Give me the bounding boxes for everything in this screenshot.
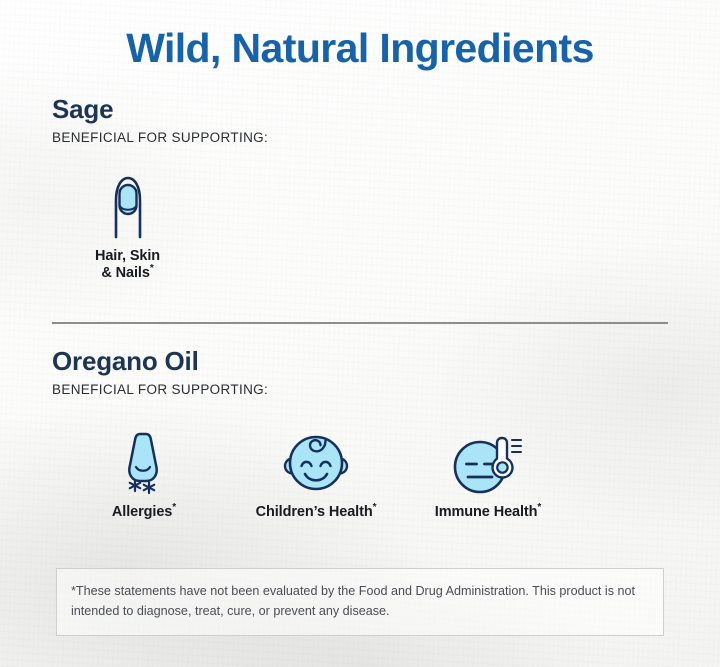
benefit-label-childrens-health: Children’s Health* — [256, 504, 377, 521]
fda-disclaimer: *These statements have not been evaluate… — [56, 568, 664, 636]
benefit-item-hair-skin-nails: Hair, Skin & Nails* — [60, 167, 195, 282]
page-title: Wild, Natural Ingredients — [0, 25, 720, 72]
benefit-label-line1: Hair, Skin — [95, 248, 160, 264]
ingredient-name-oregano-oil: Oregano Oil — [52, 348, 668, 375]
beneficial-label-sage: BENEFICIAL FOR SUPPORTING: — [52, 130, 668, 145]
benefit-item-childrens-health: Children’s Health* — [230, 423, 402, 521]
footnote-marker: * — [172, 502, 176, 513]
footnote-marker: * — [373, 502, 377, 513]
benefit-label-line1: Allergies — [112, 504, 172, 520]
benefit-item-allergies: Allergies* — [58, 423, 230, 521]
ingredient-section-oregano-oil: Oregano Oil BENEFICIAL FOR SUPPORTING: — [52, 348, 668, 521]
fingernail-icon — [102, 167, 154, 239]
ingredient-section-sage: Sage BENEFICIAL FOR SUPPORTING: Hair, Sk… — [52, 96, 668, 282]
benefit-item-immune-health: Immune Health* — [402, 423, 574, 521]
ingredients-page: Wild, Natural Ingredients Sage BENEFICIA… — [0, 0, 720, 667]
ingredient-name-sage: Sage — [52, 96, 668, 123]
benefit-list-sage: Hair, Skin & Nails* — [52, 167, 668, 282]
face-thermometer-icon — [450, 423, 526, 495]
benefit-label-line1: Immune Health — [435, 504, 538, 520]
footnote-marker: * — [537, 502, 541, 513]
benefit-label-hair-skin-nails: Hair, Skin & Nails* — [95, 248, 160, 282]
section-divider — [52, 322, 668, 324]
benefit-list-oregano-oil: Allergies* — [52, 423, 668, 521]
benefit-label-allergies: Allergies* — [112, 504, 176, 521]
beneficial-label-oregano-oil: BENEFICIAL FOR SUPPORTING: — [52, 382, 668, 397]
footnote-marker: * — [150, 263, 154, 274]
nose-pollen-icon — [113, 423, 175, 495]
benefit-label-line1: Children’s Health — [256, 504, 373, 520]
benefit-label-line2: & Nails — [101, 265, 149, 281]
baby-face-icon — [281, 423, 351, 495]
benefit-label-immune-health: Immune Health* — [435, 504, 541, 521]
